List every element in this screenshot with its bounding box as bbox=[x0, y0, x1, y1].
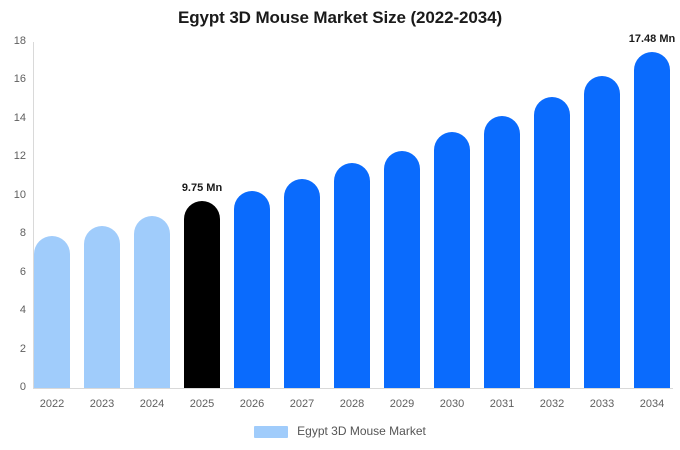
y-axis-tick-label: 6 bbox=[0, 267, 26, 278]
bar-2033[interactable] bbox=[584, 76, 620, 388]
bar-2030[interactable] bbox=[434, 132, 470, 388]
x-axis-line bbox=[33, 388, 673, 389]
y-axis-tick-label: 16 bbox=[0, 74, 26, 85]
plot-area: 024681012141618 9.75 Mn17.48 Mn 20222023… bbox=[0, 0, 680, 450]
bar-2034[interactable] bbox=[634, 52, 670, 388]
legend-label[interactable]: Egypt 3D Mouse Market bbox=[297, 425, 426, 438]
chart-legend: Egypt 3D Mouse Market bbox=[0, 425, 680, 438]
y-axis-tick-label: 8 bbox=[0, 228, 26, 239]
y-axis-tick-label: 14 bbox=[0, 113, 26, 124]
y-axis-tick-label: 2 bbox=[0, 344, 26, 355]
bar-2022[interactable] bbox=[34, 236, 70, 388]
y-axis-tick-label: 4 bbox=[0, 305, 26, 316]
x-axis-tick-label: 2023 bbox=[77, 398, 127, 410]
bar-2028[interactable] bbox=[334, 163, 370, 388]
bar-2029[interactable] bbox=[384, 151, 420, 388]
x-axis-tick-label: 2024 bbox=[127, 398, 177, 410]
y-axis-tick-label: 0 bbox=[0, 382, 26, 393]
x-axis-tick-label: 2022 bbox=[27, 398, 77, 410]
x-axis-tick-label: 2034 bbox=[627, 398, 677, 410]
x-axis-tick-label: 2029 bbox=[377, 398, 427, 410]
bar-value-label-2025: 9.75 Mn bbox=[157, 182, 247, 194]
bar-2031[interactable] bbox=[484, 116, 520, 388]
bar-2026[interactable] bbox=[234, 191, 270, 388]
y-axis-tick-label: 18 bbox=[0, 36, 26, 47]
x-axis-tick-label: 2028 bbox=[327, 398, 377, 410]
x-axis-tick-label: 2031 bbox=[477, 398, 527, 410]
bar-2032[interactable] bbox=[534, 97, 570, 388]
x-axis-tick-label: 2032 bbox=[527, 398, 577, 410]
x-axis-tick-label: 2026 bbox=[227, 398, 277, 410]
y-axis-tick-label: 10 bbox=[0, 190, 26, 201]
x-axis-tick-label: 2027 bbox=[277, 398, 327, 410]
y-axis-tick-label: 12 bbox=[0, 151, 26, 162]
bar-2024[interactable] bbox=[134, 216, 170, 388]
legend-swatch[interactable] bbox=[254, 426, 288, 438]
x-axis-tick-label: 2025 bbox=[177, 398, 227, 410]
x-axis-tick-label: 2033 bbox=[577, 398, 627, 410]
bar-2027[interactable] bbox=[284, 179, 320, 388]
chart-container: Egypt 3D Mouse Market Size (2022-2034) 0… bbox=[0, 0, 680, 450]
bar-2025[interactable] bbox=[184, 201, 220, 388]
bar-2023[interactable] bbox=[84, 226, 120, 388]
bar-value-label-2034: 17.48 Mn bbox=[607, 33, 680, 45]
x-axis-tick-label: 2030 bbox=[427, 398, 477, 410]
